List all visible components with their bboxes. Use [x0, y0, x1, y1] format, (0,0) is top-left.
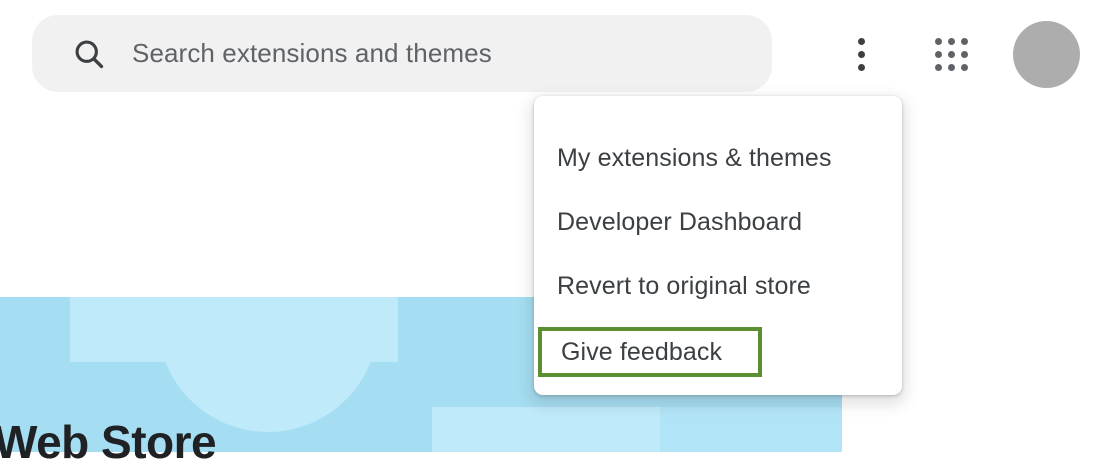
menu-item-give-feedback[interactable]: Give feedback	[538, 327, 762, 377]
apps-grid-dot	[948, 38, 955, 45]
banner-decoration-rect	[660, 407, 842, 452]
apps-grid-icon[interactable]	[927, 30, 975, 78]
apps-grid-dot	[935, 64, 942, 71]
search-input[interactable]	[130, 37, 772, 70]
hero-title: Web Store	[0, 415, 216, 469]
more-vert-dot	[858, 64, 865, 71]
apps-grid-dot	[961, 38, 968, 45]
header-bar	[0, 0, 1120, 110]
more-vert-icon[interactable]	[837, 30, 885, 78]
page-root: Web Store	[0, 0, 1120, 452]
menu-item-label: Give feedback	[561, 338, 722, 367]
search-bar[interactable]	[32, 15, 772, 92]
apps-grid-dot	[935, 51, 942, 58]
apps-grid-dot	[961, 51, 968, 58]
banner-decoration-rect	[432, 407, 660, 452]
menu-item-developer-dashboard[interactable]: Developer Dashboard	[534, 190, 902, 254]
apps-grid-dot	[948, 64, 955, 71]
menu-item-my-extensions-and-themes[interactable]: My extensions & themes	[534, 126, 902, 190]
apps-grid-dot	[948, 51, 955, 58]
overflow-dropdown-menu: My extensions & themes Developer Dashboa…	[534, 96, 902, 395]
more-vert-dot	[858, 38, 865, 45]
apps-grid-dot	[935, 38, 942, 45]
menu-item-label: Revert to original store	[557, 272, 811, 301]
menu-item-label: My extensions & themes	[557, 144, 832, 173]
menu-item-revert-to-original-store[interactable]: Revert to original store	[534, 254, 902, 318]
apps-grid-dot	[961, 64, 968, 71]
menu-item-label: Developer Dashboard	[557, 208, 802, 237]
avatar[interactable]	[1013, 21, 1080, 88]
search-icon	[72, 37, 106, 71]
banner-decoration-circle	[158, 297, 378, 432]
more-vert-dot	[858, 51, 865, 58]
